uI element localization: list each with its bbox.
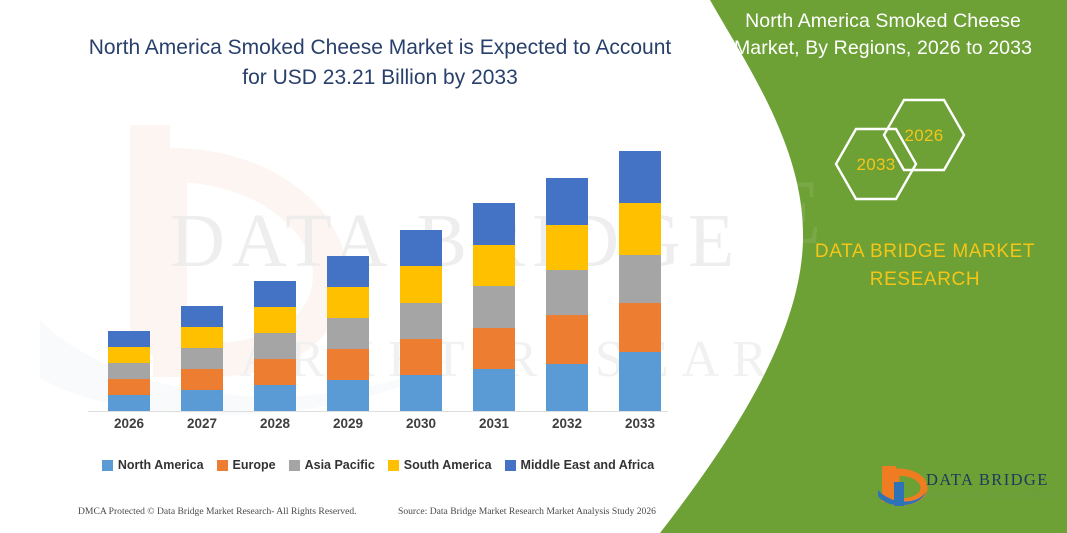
x-label-2026: 2026	[99, 416, 159, 431]
bar-segment-2028-europe	[254, 359, 296, 385]
bar-segment-2032-south-america	[546, 225, 588, 270]
legend-item-europe[interactable]: Europe	[217, 458, 276, 472]
infographic-canvas: DATA BRIDGE MARKET RESEARCH North Americ…	[0, 0, 1067, 533]
bar-segment-2029-south-america	[327, 287, 369, 318]
hexagon-badges: 2033 2026	[820, 95, 1000, 205]
page-title: North America Smoked Cheese Market is Ex…	[80, 33, 680, 93]
bar-segment-2031-asia-pacific	[473, 286, 515, 328]
bar-segment-2030-south-america	[400, 266, 442, 302]
bar-2026	[108, 331, 150, 411]
panel-brand: DATA BRIDGE MARKET RESEARCH	[790, 238, 1060, 294]
bar-2031	[473, 203, 515, 411]
legend-swatch-icon	[289, 460, 300, 471]
bar-segment-2029-north-america	[327, 380, 369, 411]
legend-item-south-america[interactable]: South America	[388, 458, 492, 472]
bar-segment-2028-middle-east-and-africa	[254, 281, 296, 307]
hex-label-2033: 2033	[846, 155, 906, 175]
legend-swatch-icon	[217, 460, 228, 471]
panel-title: North America Smoked Cheese Market, By R…	[718, 8, 1048, 62]
bar-segment-2030-middle-east-and-africa	[400, 230, 442, 266]
bar-segment-2032-europe	[546, 315, 588, 365]
bar-segment-2027-south-america	[181, 327, 223, 348]
logo-wordmark: DATA BRIDGE	[926, 470, 1049, 490]
data-bridge-logo: DATA BRIDGE MARKET RESEARCH	[876, 462, 1056, 514]
legend-swatch-icon	[505, 460, 516, 471]
bar-2029	[327, 256, 369, 411]
x-axis-labels: 20262027202820292030203120322033	[78, 416, 678, 440]
legend-item-middle-east-and-africa[interactable]: Middle East and Africa	[505, 458, 655, 472]
x-label-2029: 2029	[318, 416, 378, 431]
plot-area	[78, 120, 678, 411]
bar-segment-2029-europe	[327, 349, 369, 380]
bar-2028	[254, 281, 296, 411]
bar-2030	[400, 230, 442, 411]
bar-segment-2031-north-america	[473, 369, 515, 411]
x-label-2031: 2031	[464, 416, 524, 431]
bar-segment-2028-north-america	[254, 385, 296, 411]
bar-segment-2031-south-america	[473, 245, 515, 287]
bar-segment-2032-north-america	[546, 364, 588, 411]
x-label-2028: 2028	[245, 416, 305, 431]
logo-mark-icon	[876, 462, 928, 512]
bar-segment-2028-south-america	[254, 307, 296, 333]
x-label-2032: 2032	[537, 416, 597, 431]
bar-segment-2026-asia-pacific	[108, 363, 150, 379]
bar-2027	[181, 306, 223, 411]
legend-label: North America	[118, 458, 204, 472]
bar-segment-2026-north-america	[108, 395, 150, 411]
bar-segment-2029-asia-pacific	[327, 318, 369, 349]
bar-segment-2029-middle-east-and-africa	[327, 256, 369, 287]
hex-label-2026: 2026	[894, 126, 954, 146]
hexagon-shapes	[820, 95, 1000, 205]
bar-segment-2031-europe	[473, 328, 515, 370]
bar-2032	[546, 178, 588, 411]
bar-segment-2032-middle-east-and-africa	[546, 178, 588, 224]
legend-item-north-america[interactable]: North America	[102, 458, 204, 472]
legend-label: Middle East and Africa	[521, 458, 655, 472]
bar-segment-2027-europe	[181, 369, 223, 390]
bar-segment-2027-north-america	[181, 390, 223, 411]
bar-segment-2026-europe	[108, 379, 150, 395]
legend-label: South America	[404, 458, 492, 472]
logo-tagline: MARKET RESEARCH	[928, 490, 1061, 501]
x-label-2027: 2027	[172, 416, 232, 431]
legend-label: Asia Pacific	[305, 458, 375, 472]
legend-label: Europe	[233, 458, 276, 472]
footer: DMCA Protected © Data Bridge Market Rese…	[78, 506, 678, 526]
legend-item-asia-pacific[interactable]: Asia Pacific	[289, 458, 375, 472]
chart-legend: North AmericaEuropeAsia PacificSouth Ame…	[78, 455, 678, 475]
bar-segment-2027-middle-east-and-africa	[181, 306, 223, 327]
legend-swatch-icon	[102, 460, 113, 471]
footer-source: Source: Data Bridge Market Research Mark…	[398, 506, 656, 517]
legend-swatch-icon	[388, 460, 399, 471]
bar-segment-2030-asia-pacific	[400, 303, 442, 339]
bar-segment-2026-middle-east-and-africa	[108, 331, 150, 347]
bar-segment-2030-north-america	[400, 375, 442, 411]
footer-copyright: DMCA Protected © Data Bridge Market Rese…	[78, 506, 357, 517]
bar-segment-2032-asia-pacific	[546, 270, 588, 315]
bar-segment-2031-middle-east-and-africa	[473, 203, 515, 245]
bar-segment-2030-europe	[400, 339, 442, 375]
bar-segment-2028-asia-pacific	[254, 333, 296, 359]
bar-segment-2026-south-america	[108, 347, 150, 363]
bar-segment-2027-asia-pacific	[181, 348, 223, 369]
stacked-bar-chart: 20262027202820292030203120322033	[78, 120, 678, 415]
x-label-2030: 2030	[391, 416, 451, 431]
x-axis-line	[88, 411, 668, 412]
